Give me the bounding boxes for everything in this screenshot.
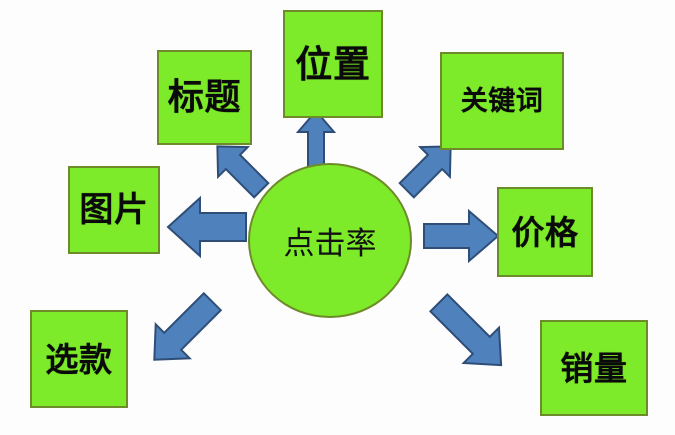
arrow-left-to-tupian bbox=[166, 195, 248, 259]
node-box-tupian[interactable]: 图片 bbox=[68, 166, 160, 254]
center-node-label: 点击率 bbox=[284, 218, 377, 263]
node-label-xuankuan: 选款 bbox=[45, 343, 112, 376]
node-label-jiage: 价格 bbox=[511, 216, 578, 249]
node-label-xiaoliang: 销量 bbox=[560, 352, 627, 385]
node-box-jiage[interactable]: 价格 bbox=[497, 187, 593, 277]
node-box-xuankuan[interactable]: 选款 bbox=[30, 310, 128, 408]
diagram-canvas: 位置 标题 关键词 图片 价格 选款 销量 点击率 bbox=[0, 0, 675, 435]
center-node-ctr[interactable]: 点击率 bbox=[248, 163, 412, 318]
node-label-guanjianci: 关键词 bbox=[461, 88, 544, 115]
node-box-xiaoliang[interactable]: 销量 bbox=[540, 320, 648, 416]
arrow-down-right-to-xiaoliang bbox=[418, 282, 522, 386]
node-box-biaoti[interactable]: 标题 bbox=[157, 50, 252, 145]
node-label-weizhi: 位置 bbox=[295, 46, 370, 83]
node-box-guanjianci[interactable]: 关键词 bbox=[440, 52, 564, 150]
node-label-tupian: 图片 bbox=[79, 193, 148, 227]
node-box-weizhi[interactable]: 位置 bbox=[283, 10, 383, 118]
arrow-right-to-jiage bbox=[422, 208, 500, 264]
node-label-biaoti: 标题 bbox=[168, 80, 241, 116]
arrow-down-left-to-xuankuan bbox=[136, 282, 232, 378]
